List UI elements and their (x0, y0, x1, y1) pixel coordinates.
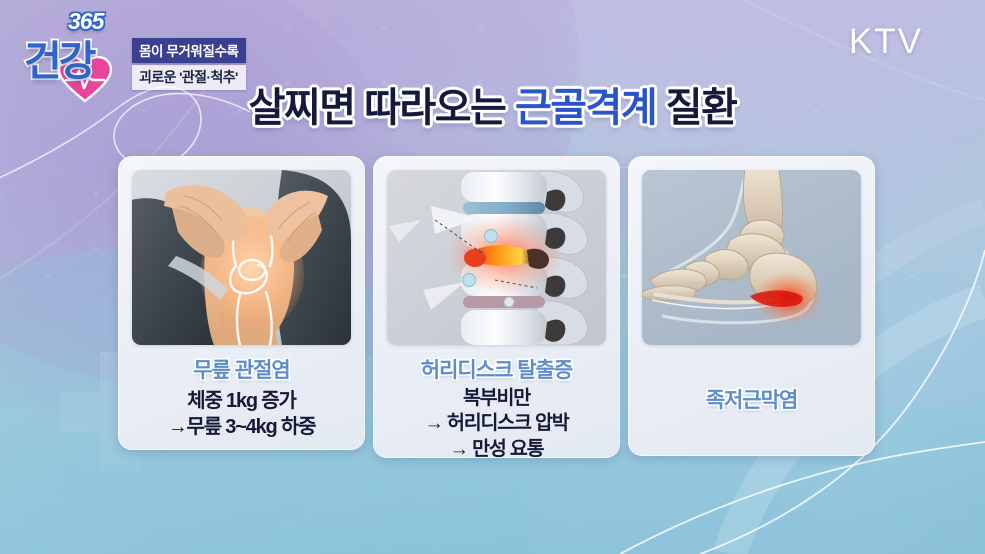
broadcast-slide: KTV 365 건강 몸이 무거워질수록 괴로운 '관절·척추' 살찌면 따라오… (0, 0, 985, 554)
card-label: 허리디스크 탈출증 (373, 354, 620, 384)
card-label: 무릎 관절염 (118, 354, 365, 384)
disease-card-herniated-disc[interactable]: 허리디스크 탈출증 복부비만 → 허리디스크 압박 → 만성 요통 (373, 156, 620, 458)
card-label: 족저근막염 (628, 384, 875, 414)
program-badge-365: 365 (68, 8, 103, 35)
foot-bone-plantar-fascia-illustration (642, 170, 861, 345)
card-description: 복부비만 → 허리디스크 압박 → 만성 요통 (379, 386, 614, 462)
disease-card-list: 무릎 관절염 체중 1kg 증가 →무릎 3~4kg 하중 (0, 0, 985, 554)
card-description: 체중 1kg 증가 →무릎 3~4kg 하중 (124, 388, 359, 441)
program-title-korean: 건강 (24, 27, 93, 87)
lumbar-disc-herniation-illustration (387, 170, 606, 345)
disease-card-plantar-fasciitis[interactable]: 족저근막염 (628, 156, 875, 456)
card-description-line: → 허리디스크 압박 (379, 411, 614, 436)
card-description-line: →무릎 3~4kg 하중 (124, 414, 359, 440)
card-description-line: 체중 1kg 증가 (124, 388, 359, 414)
card-description-line: → 만성 요통 (379, 437, 614, 462)
disease-card-knee-arthritis[interactable]: 무릎 관절염 체중 1kg 증가 →무릎 3~4kg 하중 (118, 156, 365, 450)
knee-joint-pain-photo (132, 170, 351, 345)
card-description-line: 복부비만 (379, 386, 614, 411)
